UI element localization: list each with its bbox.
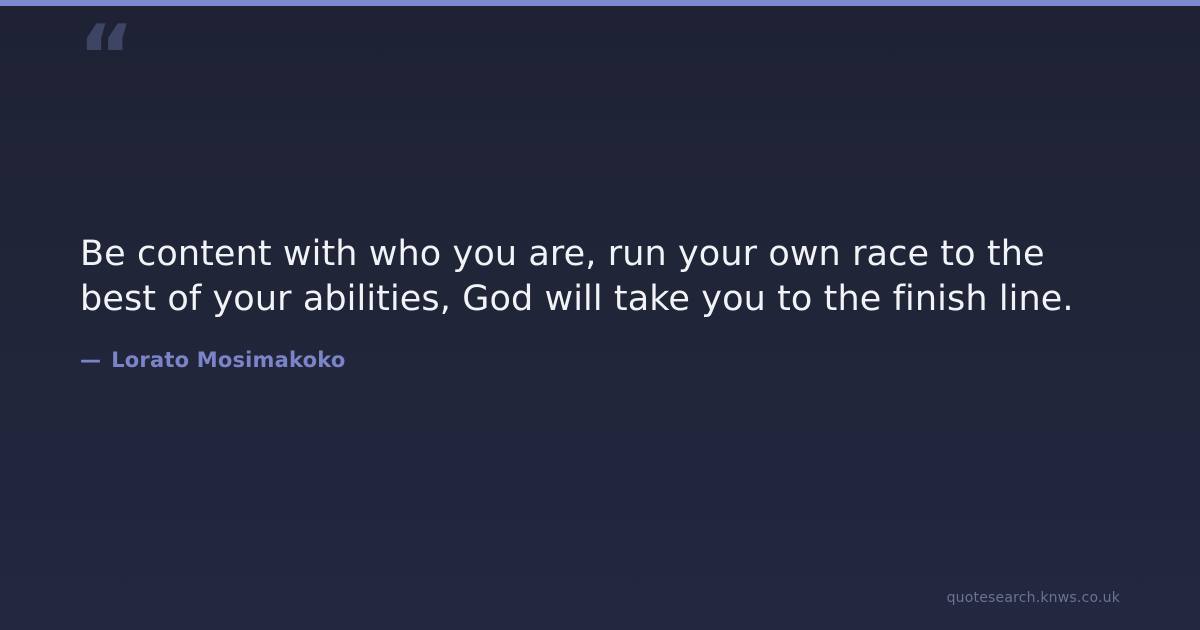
quote-attribution: — Lorato Mosimakoko (80, 348, 1120, 372)
quote-card: “ Be content with who you are, run your … (0, 0, 1200, 630)
quote-content: Be content with who you are, run your ow… (80, 232, 1120, 372)
quote-text: Be content with who you are, run your ow… (80, 232, 1090, 322)
author-name[interactable]: Lorato Mosimakoko (111, 348, 345, 372)
opening-quote-icon: “ (78, 14, 133, 100)
top-accent-bar (0, 0, 1200, 6)
source-watermark: quotesearch.knws.co.uk (947, 590, 1120, 606)
attribution-dash: — (80, 348, 101, 372)
